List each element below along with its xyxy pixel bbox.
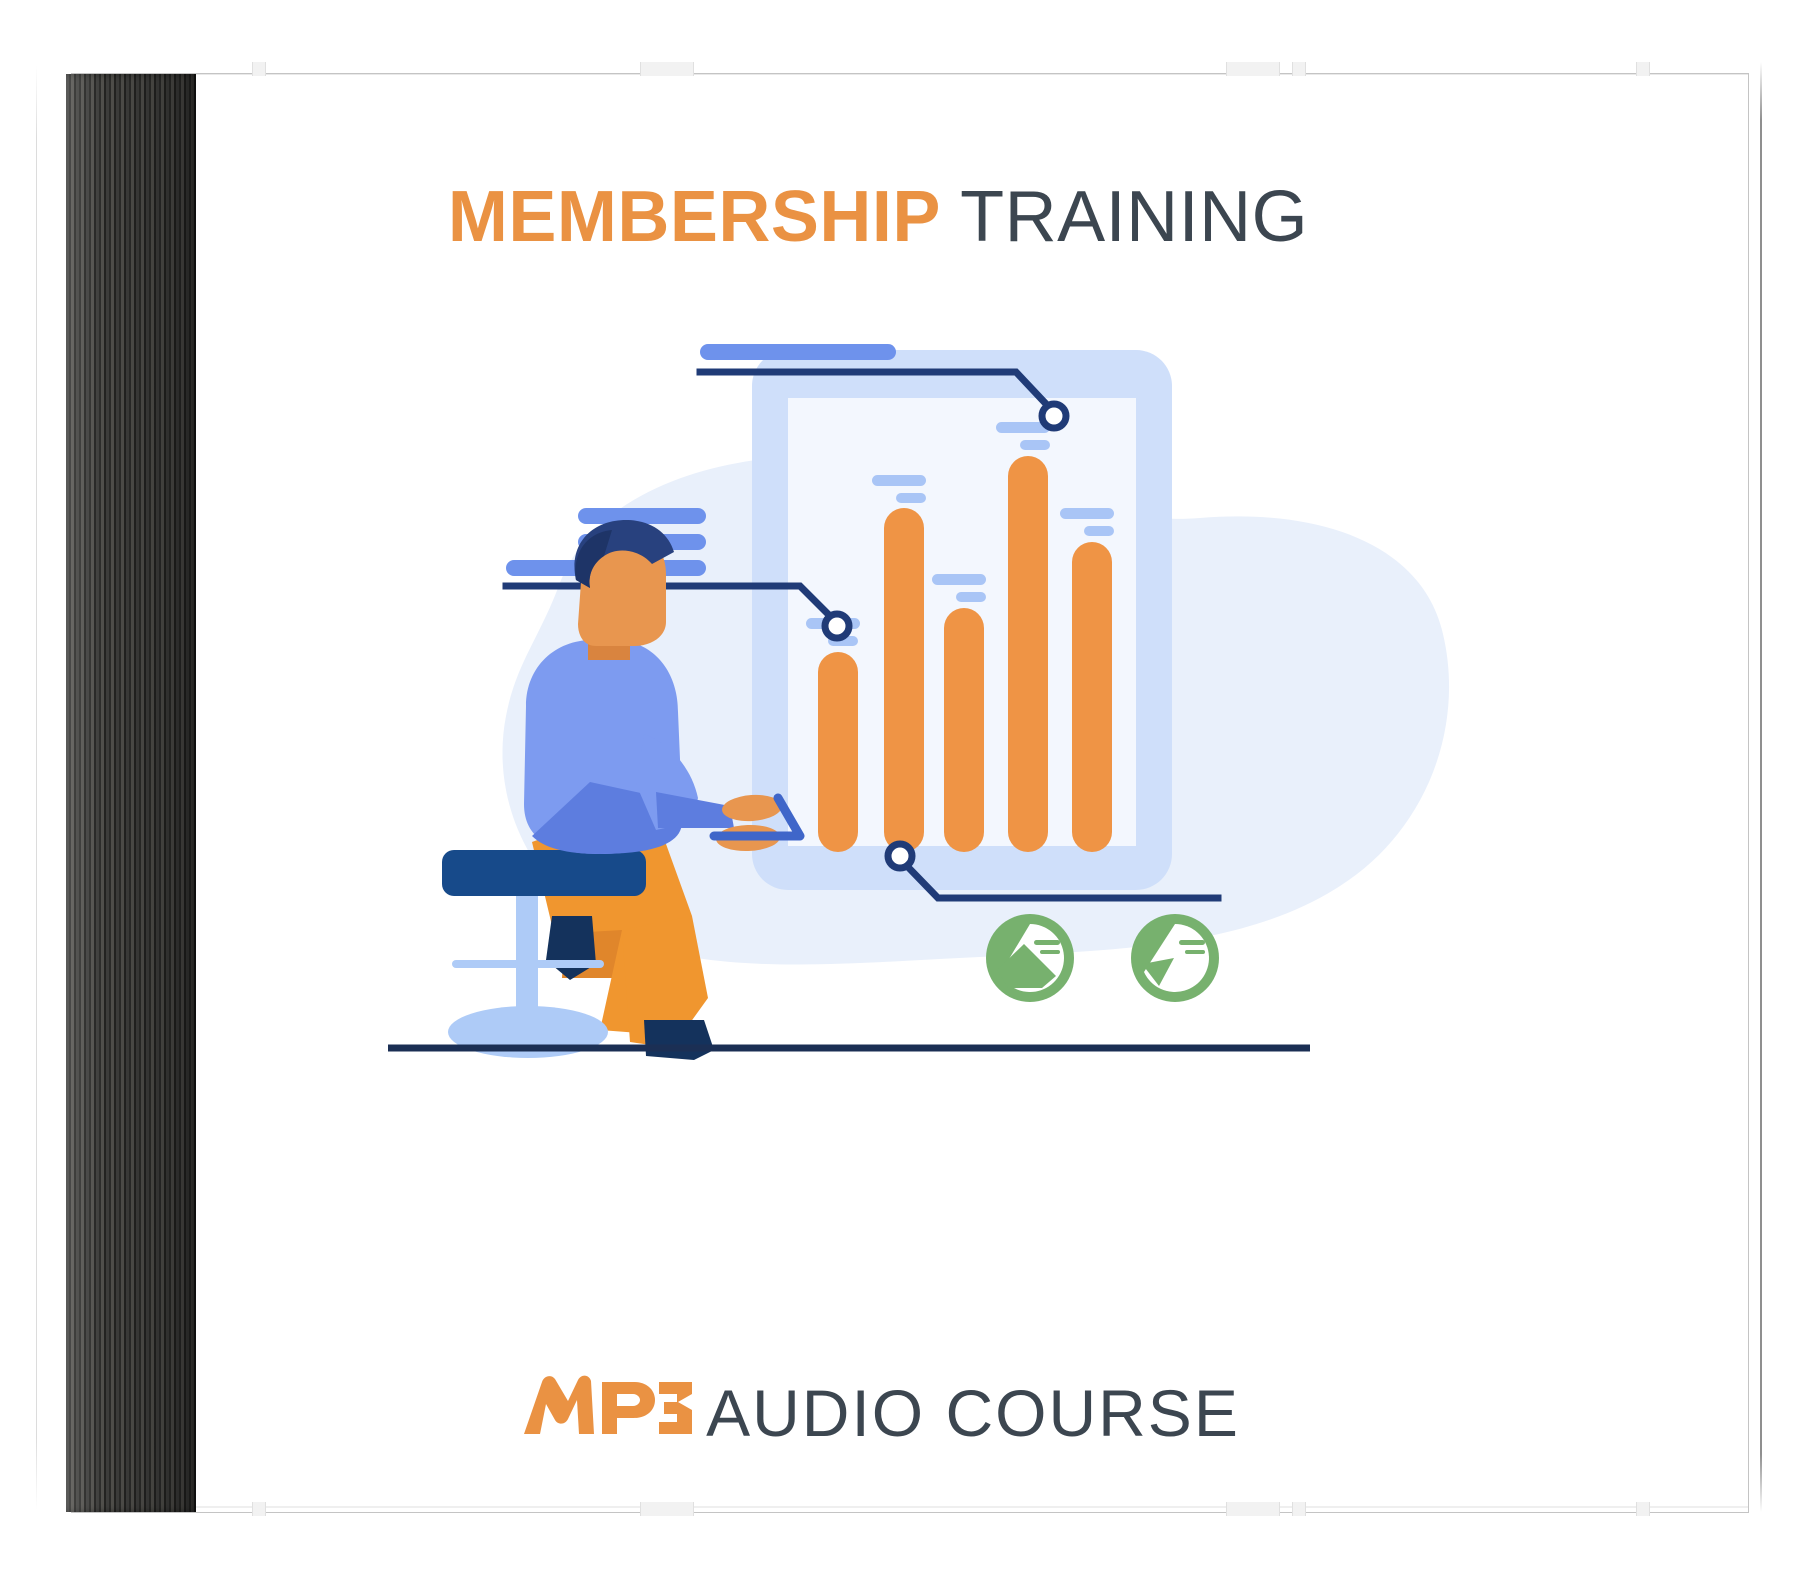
callout-top-dot [1042,404,1066,428]
case-hinge-nub [1636,1502,1650,1516]
bar-2 [884,508,924,852]
case-hinge-nub [1226,1502,1280,1516]
stool-seat [442,850,646,896]
title-accent-word: MEMBERSHIP [448,177,941,257]
title-rest-word: TRAINING [941,177,1308,257]
bar-5-label-short [1084,526,1114,536]
stool-stem [516,878,538,1030]
case-edge-left-outer [36,66,37,1510]
bar-2-label-short [896,493,926,503]
case-hinge-nub [640,62,694,76]
case-edge-right-outer [1760,62,1762,1512]
pie-left-tick-2 [1040,950,1060,954]
page-title: MEMBERSHIP TRAINING [196,176,1560,258]
cover-illustration [300,330,1460,1090]
pie-left-tick-1 [1034,940,1060,945]
bar-5 [1072,542,1112,852]
callout-top-text-bar [700,344,896,360]
case-hinge-nub [252,62,266,76]
callout-left-text-bar-1 [578,508,706,524]
bar-3-label-long [932,574,986,585]
person-shoe-front [644,1020,714,1060]
bar-4 [1008,456,1048,852]
bar-3 [944,608,984,852]
case-hinge-nub [1226,62,1280,76]
bar-3-label-short [956,592,986,602]
callout-left-dot [825,614,849,638]
footer-text: AUDIO COURSE [706,1376,1240,1450]
jewel-case-spine [66,74,196,1512]
case-hinge-nub [1292,62,1306,76]
jewel-case-mockup: MEMBERSHIP TRAINING [0,0,1812,1576]
pie-chart-right [1131,914,1219,1002]
pie-right-tick-1 [1179,940,1205,945]
bar-1 [818,652,858,852]
bar-4-label-short [1020,440,1050,450]
bar-2-label-long [872,475,926,486]
case-hinge-nub [1292,1502,1306,1516]
case-hinge-nub [640,1502,694,1516]
case-hinge-nub [252,1502,266,1516]
insert-bottom-hairline [196,1506,1748,1508]
bar-5-label-long [1060,508,1114,519]
insert-top-hairline [196,74,1748,75]
stool-footring [452,960,604,968]
mp3-logo-icon [516,1374,692,1445]
footer-label: AUDIO COURSE [196,1374,1560,1451]
case-hinge-nub [1636,62,1650,76]
pie-right-tick-2 [1185,950,1205,954]
pie-chart-left [986,914,1074,1002]
